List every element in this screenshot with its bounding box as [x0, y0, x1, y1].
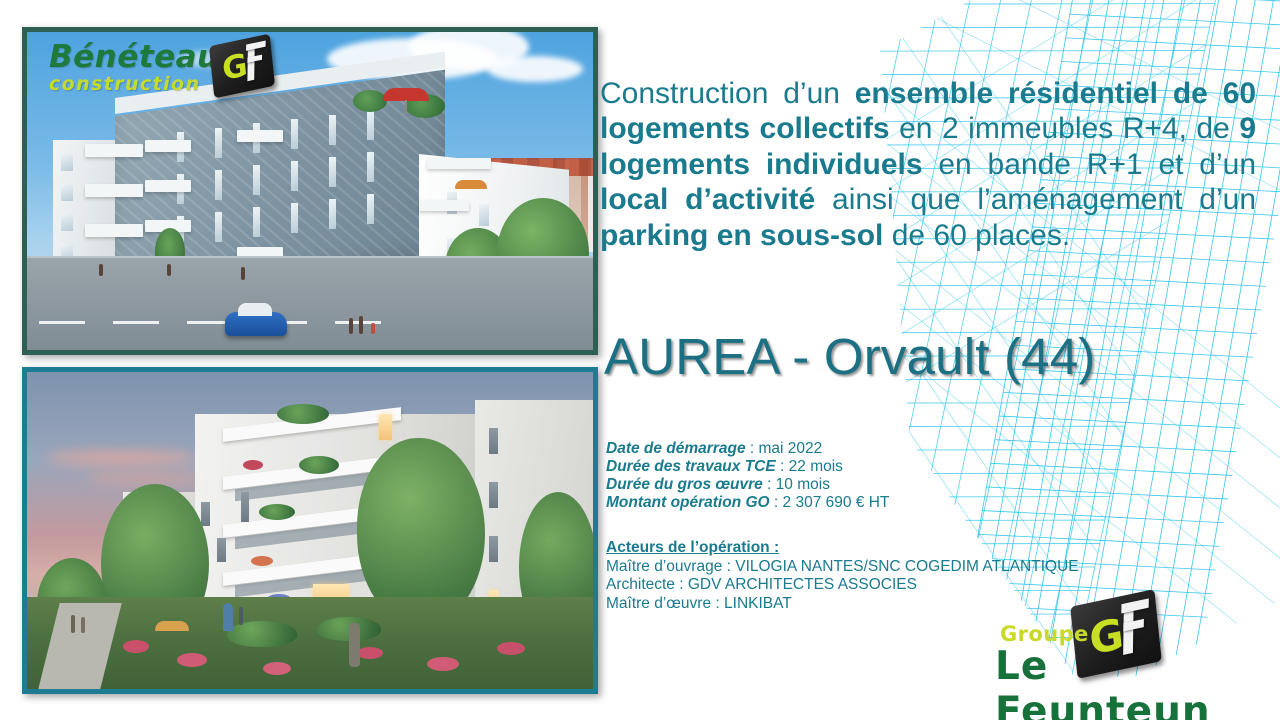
slide-root: Bénéteau construction G — [0, 0, 1280, 720]
description-part-0: Construction d’un — [600, 77, 855, 110]
fact-value: 2 307 690 € HT — [783, 494, 890, 511]
description-part-5: local d’activité — [600, 183, 815, 216]
actors-heading: Acteurs de l’opération : — [606, 539, 1186, 558]
actor-separator: : — [675, 576, 688, 593]
page-title: AUREA - Orvault (44) — [604, 327, 1264, 386]
actor-value: GDV ARCHITECTES ASSOCIES — [688, 576, 917, 593]
actor-separator: : — [711, 595, 724, 612]
corporate-logo-groupe: Groupe — [1000, 622, 1089, 646]
fact-separator: : — [746, 440, 759, 457]
project-render-street-view: Bénéteau construction G — [22, 27, 598, 355]
fact-label: Montant opération GO — [606, 494, 770, 511]
project-render-garden-view — [22, 367, 598, 694]
actor-separator: : — [722, 558, 735, 575]
project-description-paragraph: Construction d’un ensemble résidentiel d… — [600, 76, 1256, 253]
project-facts-block: Date de démarrage : mai 2022 Durée des t… — [606, 440, 1166, 513]
actor-label: Maître d’ouvrage — [606, 558, 722, 575]
actor-value: LINKIBAT — [724, 595, 792, 612]
description-part-2: en 2 immeubles R+4, de — [890, 112, 1240, 145]
actor-value: VILOGIA NANTES/SNC COGEDIM ATLANTIQUE — [735, 558, 1078, 575]
gf-mark-icon: G — [211, 40, 273, 92]
fact-row: Durée des travaux TCE : 22 mois — [606, 458, 1166, 476]
fact-separator: : — [770, 494, 783, 511]
actor-row: Maître d’ouvrage : VILOGIA NANTES/SNC CO… — [606, 558, 1186, 577]
actor-label: Maître d’œuvre — [606, 595, 711, 612]
fact-value: 10 mois — [776, 476, 830, 493]
actor-label: Architecte — [606, 576, 675, 593]
fact-label: Date de démarrage — [606, 440, 746, 457]
description-part-6: ainsi que l’aménagement d’un — [815, 183, 1256, 216]
fact-row: Date de démarrage : mai 2022 — [606, 440, 1166, 458]
description-part-4: en bande R+1 et d’un — [923, 148, 1256, 181]
fact-label: Durée du gros œuvre — [606, 476, 763, 493]
fact-label: Durée des travaux TCE — [606, 458, 776, 475]
fact-separator: : — [776, 458, 789, 475]
car-illustration — [225, 312, 287, 336]
fact-row: Durée du gros œuvre : 10 mois — [606, 476, 1166, 494]
fact-row: Montant opération GO : 2 307 690 € HT — [606, 494, 1166, 512]
description-part-7: parking en sous-sol — [600, 219, 883, 252]
actor-row: Architecte : GDV ARCHITECTES ASSOCIES — [606, 576, 1186, 595]
description-part-8: de 60 places. — [883, 219, 1070, 252]
fact-value: mai 2022 — [758, 440, 822, 457]
fact-value: 22 mois — [789, 458, 843, 475]
groupe-le-feunteun-logo: G Groupe Le Feunteun — [995, 600, 1265, 700]
beneteau-construction-logo: Bénéteau construction G — [49, 42, 299, 114]
corporate-logo-name: Le Feunteun — [995, 644, 1265, 720]
fact-separator: : — [763, 476, 776, 493]
